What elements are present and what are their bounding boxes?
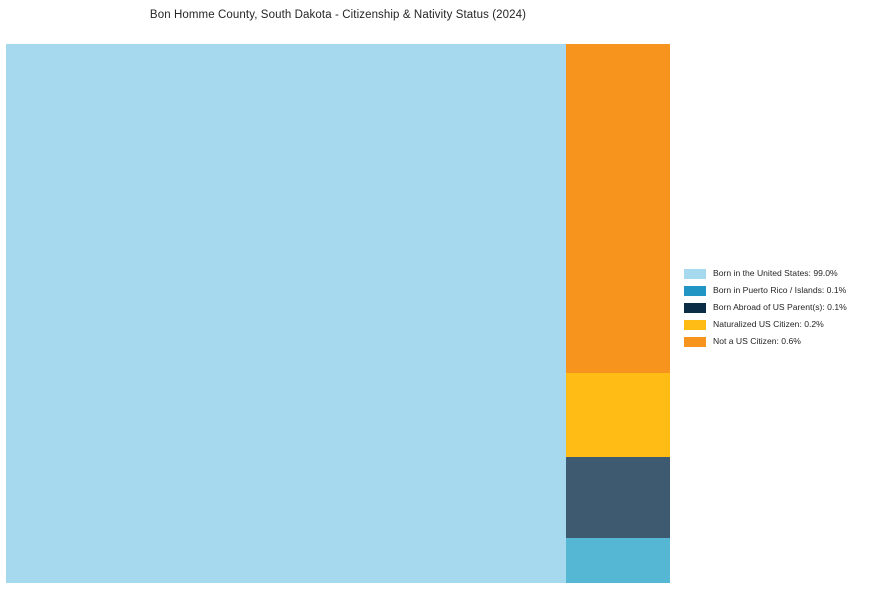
legend-item-label: Born in the United States: 99.0% (713, 269, 838, 278)
legend-swatch-icon (684, 269, 706, 279)
treemap-plot-area (6, 44, 670, 583)
legend-item-label: Not a US Citizen: 0.6% (713, 337, 801, 346)
legend-item[interactable]: Born in the United States: 99.0% (684, 265, 884, 282)
treemap-tile[interactable] (6, 44, 566, 583)
legend-item-label: Naturalized US Citizen: 0.2% (713, 320, 824, 329)
legend-item-label: Born in Puerto Rico / Islands: 0.1% (713, 286, 846, 295)
legend-item[interactable]: Not a US Citizen: 0.6% (684, 333, 884, 350)
legend-item[interactable]: Naturalized US Citizen: 0.2% (684, 316, 884, 333)
legend-item[interactable]: Born in Puerto Rico / Islands: 0.1% (684, 282, 884, 299)
legend-swatch-icon (684, 286, 706, 296)
legend-item-label: Born Abroad of US Parent(s): 0.1% (713, 303, 847, 312)
treemap-tile[interactable] (566, 457, 670, 538)
legend-swatch-icon (684, 320, 706, 330)
legend-swatch-icon (684, 303, 706, 313)
chart-figure: Bon Homme County, South Dakota - Citizen… (0, 0, 889, 590)
treemap-tile[interactable] (566, 538, 670, 583)
page-title: Bon Homme County, South Dakota - Citizen… (0, 9, 676, 21)
treemap-tile[interactable] (566, 44, 670, 373)
legend-swatch-icon (684, 337, 706, 347)
chart-legend: Born in the United States: 99.0%Born in … (684, 265, 884, 350)
legend-item[interactable]: Born Abroad of US Parent(s): 0.1% (684, 299, 884, 316)
treemap-tile[interactable] (566, 373, 670, 457)
